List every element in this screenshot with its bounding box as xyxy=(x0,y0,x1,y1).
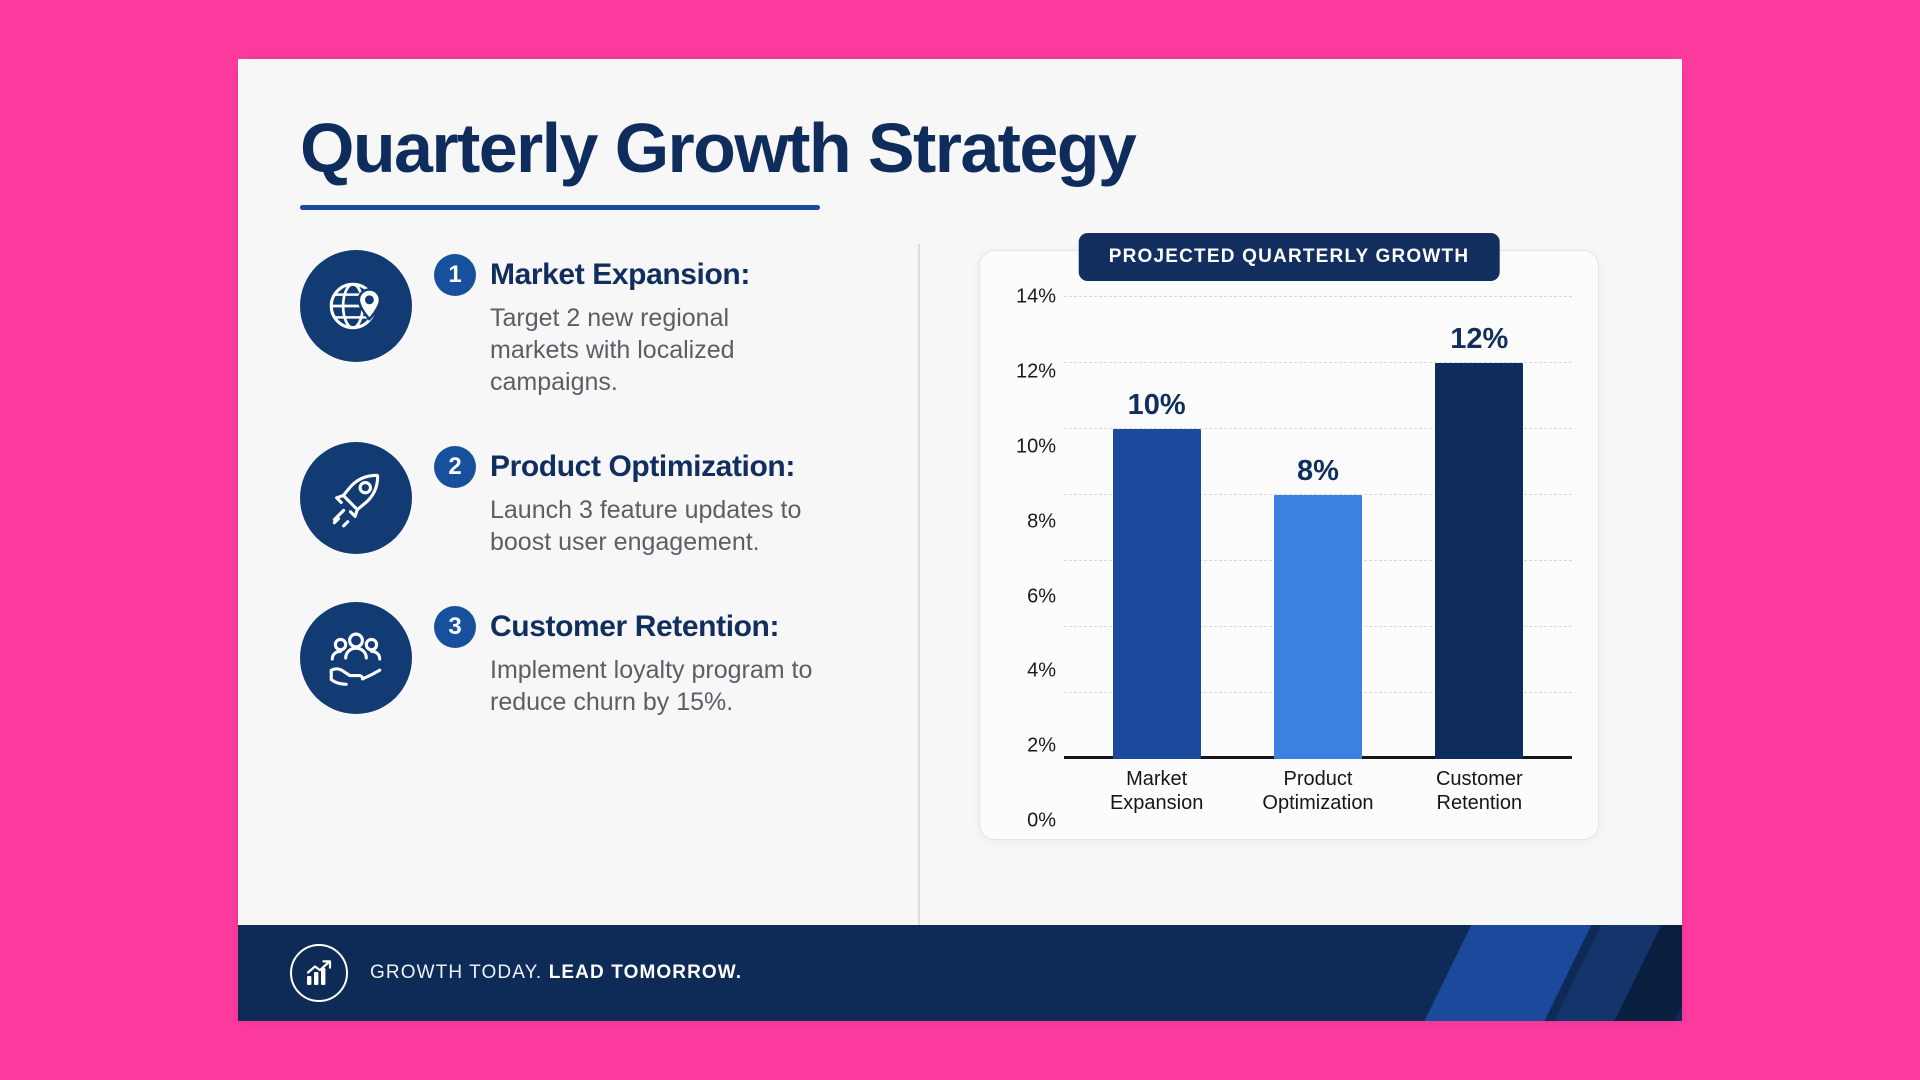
y-tick-label: 10% xyxy=(1016,435,1056,458)
footer-tagline: GROWTH TODAY. LEAD TOMORROW. xyxy=(370,962,742,984)
page-title: Quarterly Growth Strategy xyxy=(300,111,1620,185)
bar-group[interactable]: 10% xyxy=(1076,297,1237,759)
strategy-item-text: 2 Product Optimization: Launch 3 feature… xyxy=(434,442,872,558)
chart-panel: PROJECTED QUARTERLY GROWTH 0%2%4%6%8%10%… xyxy=(979,250,1599,840)
bar-group[interactable]: 12% xyxy=(1399,297,1560,759)
card-body: Quarterly Growth Strategy xyxy=(238,59,1682,925)
rocket-icon xyxy=(300,442,412,554)
y-tick-label: 2% xyxy=(1027,735,1056,758)
y-tick-label: 6% xyxy=(1027,585,1056,608)
y-tick-label: 14% xyxy=(1016,286,1056,309)
strategy-item-number: 3 xyxy=(434,606,476,648)
strategy-item-product-optimization[interactable]: 2 Product Optimization: Launch 3 feature… xyxy=(300,442,872,558)
x-tick-label: CustomerRetention xyxy=(1399,768,1560,821)
chart-column: PROJECTED QUARTERLY GROWTH 0%2%4%6%8%10%… xyxy=(920,244,1620,925)
growth-chart-icon xyxy=(290,944,348,1002)
bar-value-label: 12% xyxy=(1450,325,1508,354)
strategy-item-number: 2 xyxy=(434,446,476,488)
bar-group[interactable]: 8% xyxy=(1237,297,1398,759)
title-block: Quarterly Growth Strategy xyxy=(300,111,1620,210)
y-tick-label: 0% xyxy=(1027,810,1056,833)
x-axis-labels: MarketExpansionProductOptimizationCustom… xyxy=(1064,759,1572,821)
bars-row: 10%8%12% xyxy=(1064,297,1572,759)
bar-rect[interactable] xyxy=(1435,363,1523,759)
plot-inner: 10%8%12% MarketExpansionProductOptimizat… xyxy=(1064,297,1572,821)
strategy-item-text: 3 Customer Retention: Implement loyalty … xyxy=(434,602,872,718)
globe-pin-icon xyxy=(300,250,412,362)
strategy-item-head: 1 Market Expansion: xyxy=(434,254,872,296)
strategy-list: 1 Market Expansion: Target 2 new regiona… xyxy=(300,244,920,925)
x-tick-label: MarketExpansion xyxy=(1076,768,1237,821)
y-tick-label: 4% xyxy=(1027,660,1056,683)
footer-tagline-light: GROWTH TODAY. xyxy=(370,962,542,983)
card-footer: GROWTH TODAY. LEAD TOMORROW. xyxy=(238,925,1682,1021)
strategy-item-description: Implement loyalty program to reduce chur… xyxy=(490,654,820,718)
strategy-item-title: Market Expansion: xyxy=(490,258,750,292)
strategy-item-title: Product Optimization: xyxy=(490,450,795,484)
strategy-item-head: 2 Product Optimization: xyxy=(434,446,872,488)
strategy-item-customer-retention[interactable]: 3 Customer Retention: Implement loyalty … xyxy=(300,602,872,718)
strategy-item-title: Customer Retention: xyxy=(490,610,779,644)
content-columns: 1 Market Expansion: Target 2 new regiona… xyxy=(300,244,1620,925)
x-tick-label: ProductOptimization xyxy=(1237,768,1398,821)
strategy-item-text: 1 Market Expansion: Target 2 new regiona… xyxy=(434,250,872,398)
y-axis: 0%2%4%6%8%10%12%14% xyxy=(1002,297,1064,821)
y-tick-label: 8% xyxy=(1027,510,1056,533)
strategy-item-description: Target 2 new regional markets with local… xyxy=(490,302,820,398)
infographic-card: Quarterly Growth Strategy xyxy=(238,59,1682,1021)
strategy-item-market-expansion[interactable]: 1 Market Expansion: Target 2 new regiona… xyxy=(300,250,872,398)
y-tick-label: 12% xyxy=(1016,361,1056,384)
title-underline-rule xyxy=(300,205,820,210)
bar-rect[interactable] xyxy=(1274,495,1362,759)
strategy-item-number: 1 xyxy=(434,254,476,296)
bar-value-label: 8% xyxy=(1297,457,1339,486)
bar-rect[interactable] xyxy=(1113,429,1201,759)
plot-area: 0%2%4%6%8%10%12%14% 10%8%12% MarketExpan… xyxy=(1002,297,1572,821)
chart-title-badge: PROJECTED QUARTERLY GROWTH xyxy=(1079,233,1500,281)
strategy-item-description: Launch 3 feature updates to boost user e… xyxy=(490,494,820,558)
bar-value-label: 10% xyxy=(1128,391,1186,420)
footer-tagline-bold: LEAD TOMORROW. xyxy=(549,962,742,983)
hand-people-icon xyxy=(300,602,412,714)
strategy-item-head: 3 Customer Retention: xyxy=(434,606,872,648)
